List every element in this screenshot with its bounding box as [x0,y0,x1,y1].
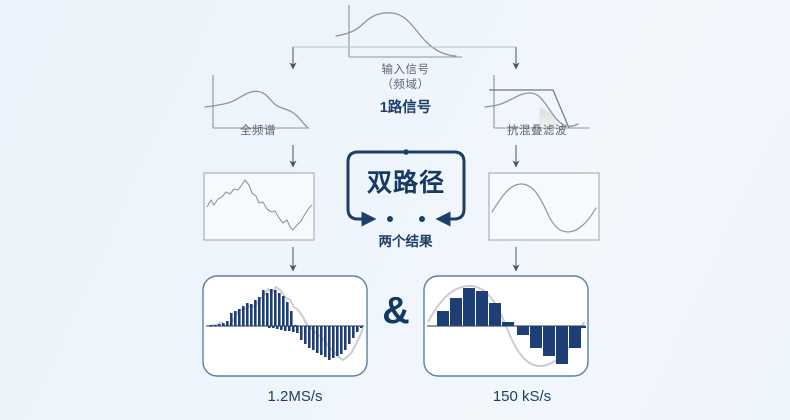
diagram-canvas: 输入信号 （频域） 1路信号 全频谱 抗混叠滤波 双路径 两个结果 & 1.2M… [0,0,790,420]
high-rate-result-panel [203,276,367,376]
filtered-waveform-panel [489,173,599,240]
input-spectrum-curve [336,13,456,56]
two-results-label: 两个结果 [343,230,468,250]
stage3-arrows [293,247,516,268]
ampersand-symbol: & [375,290,417,333]
input-spectrum-chart [336,5,462,57]
input-signal-label-line2: （频域） [343,78,468,93]
antialias-filter-label: 抗混叠滤波 [482,124,592,139]
input-signal-label: 输入信号 （频域） [343,63,468,93]
full-spectrum-label: 全频谱 [213,124,303,139]
badge-bottom-dot-left [387,216,393,222]
full-spectrum-curve [205,91,307,127]
high-rate-label: 1.2MS/s [225,388,365,405]
stage2-arrows [293,145,516,164]
badge-bottom-dot-right [419,216,425,222]
low-rate-label: 150 kS/s [452,388,592,405]
full-spectrum-chart [205,75,309,128]
dual-path-label: 双路径 [348,163,464,199]
antialias-filter-chart [485,75,590,128]
badge-top-dot [403,149,409,155]
antialias-signal-curve [485,93,578,126]
one-signal-label: 1路信号 [343,96,468,117]
low-rate-result-panel [424,276,588,376]
input-signal-label-line1: 输入信号 [343,63,468,78]
wideband-waveform-panel [204,173,314,240]
wideband-panel-frame [204,173,314,240]
